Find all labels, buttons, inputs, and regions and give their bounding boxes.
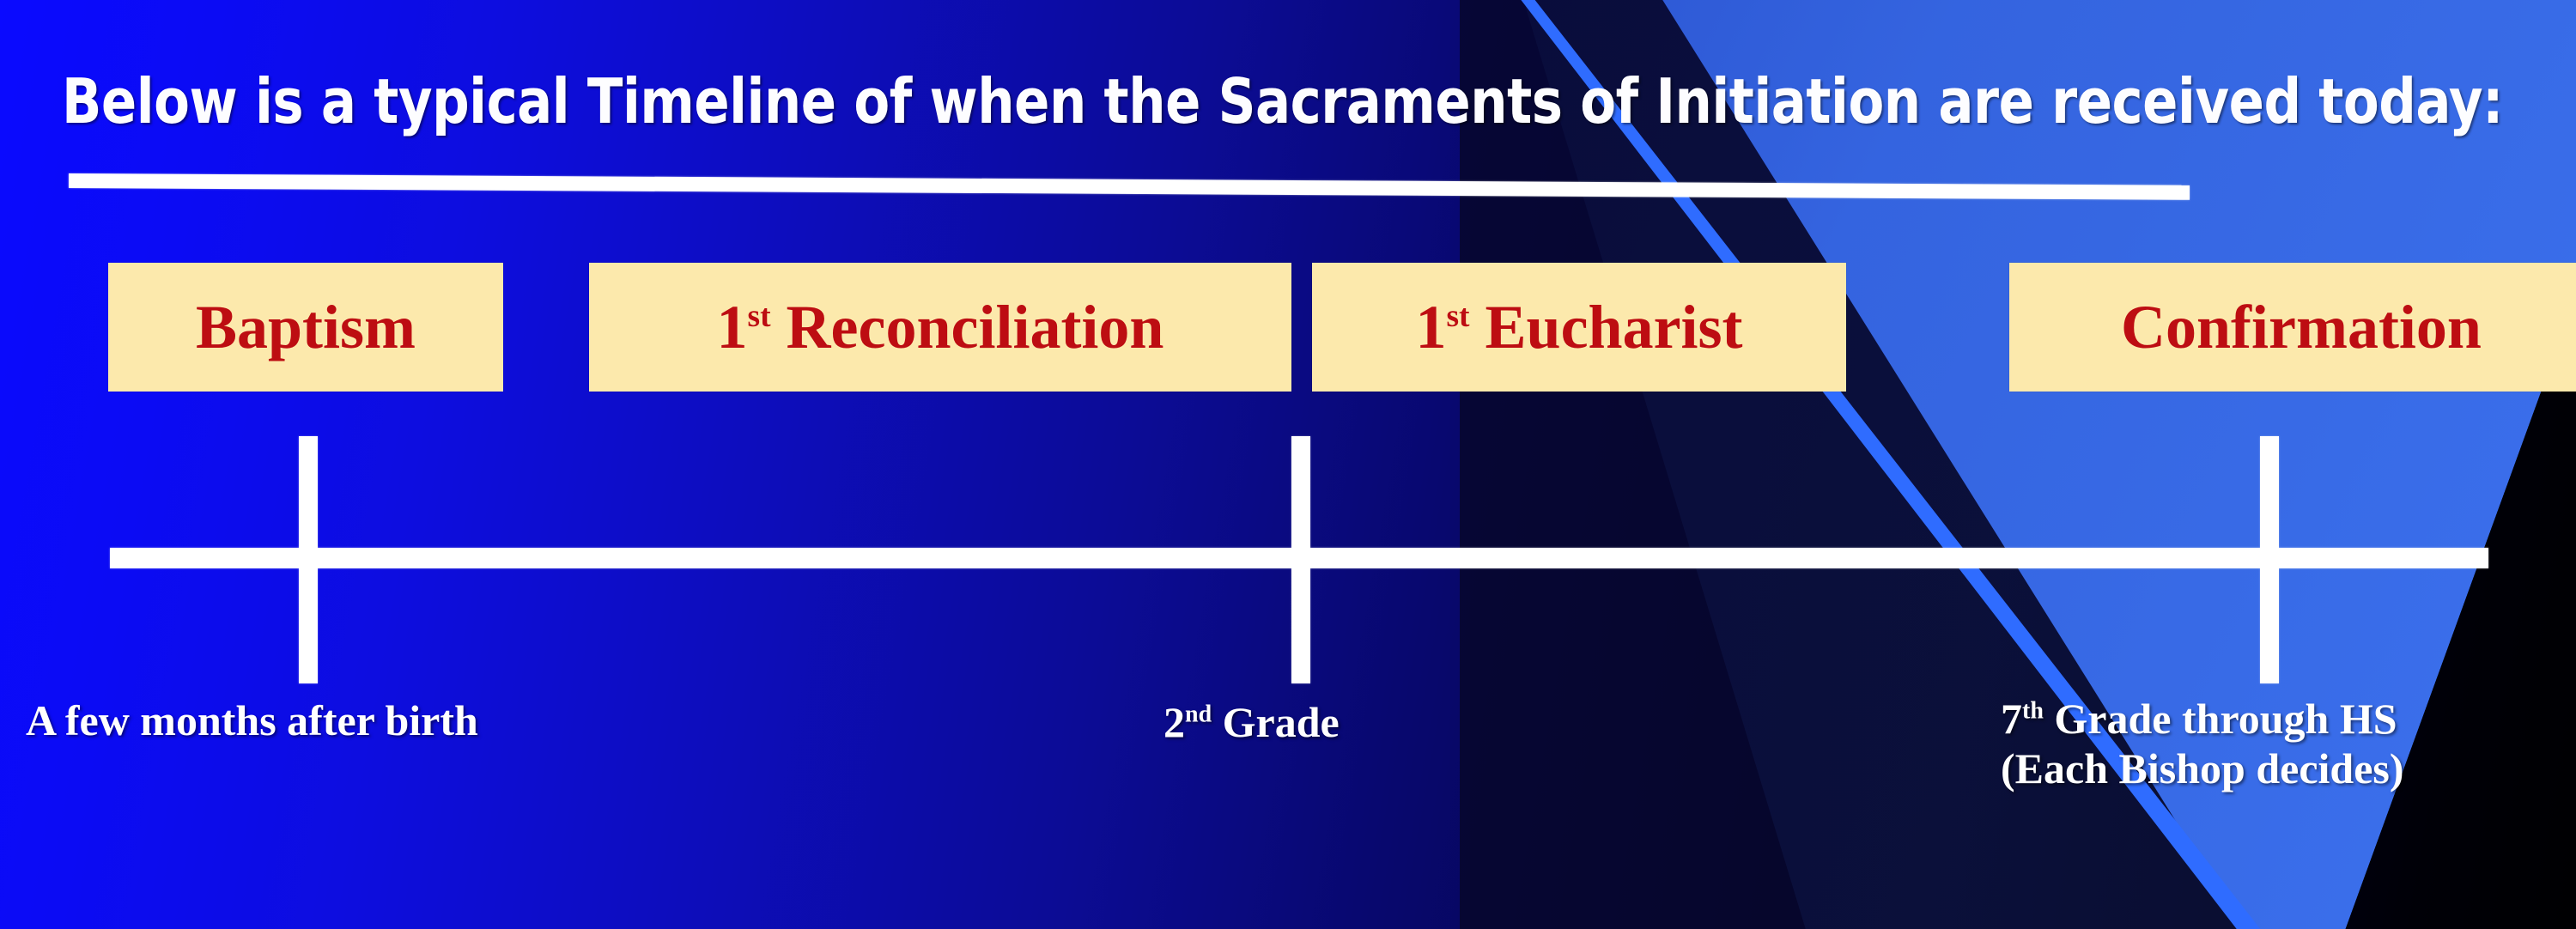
sacrament-name: Eucharist bbox=[1470, 293, 1743, 361]
timeline-caption-confirmation-age: 7th Grade through HS(Each Bishop decides… bbox=[2001, 694, 2404, 793]
ordinal-number: 1 bbox=[1415, 293, 1446, 361]
timeline-tick-eucharist bbox=[1291, 436, 1310, 683]
ordinal-suffix: nd bbox=[1185, 701, 1212, 727]
timeline-caption-eucharist-age: 2nd Grade bbox=[1163, 697, 1340, 747]
title-underline bbox=[69, 173, 2190, 200]
sacrament-label-baptism: Baptism bbox=[189, 296, 422, 358]
sacrament-box-baptism: Baptism bbox=[108, 263, 503, 392]
caption-text: Grade through HS bbox=[2044, 695, 2397, 743]
sacrament-label-reconciliation: 1st Reconciliation bbox=[710, 296, 1171, 358]
ordinal-number: 7 bbox=[2001, 695, 2022, 743]
sacrament-box-confirmation: Confirmation bbox=[2009, 263, 2576, 392]
timeline-caption-baptism-age: A few months after birth bbox=[26, 695, 478, 745]
page-title: Below is a typical Timeline of when the … bbox=[62, 70, 2386, 132]
caption-text-line2: (Each Bishop decides) bbox=[2001, 744, 2404, 793]
ordinal-number: 2 bbox=[1163, 698, 1185, 746]
timeline-tick-confirmation bbox=[2260, 436, 2279, 683]
sacrament-name: Reconciliation bbox=[771, 293, 1164, 361]
slide-canvas: Below is a typical Timeline of when the … bbox=[0, 0, 2576, 929]
sacrament-label-eucharist: 1st Eucharist bbox=[1408, 296, 1749, 358]
sacrament-box-reconciliation: 1st Reconciliation bbox=[589, 263, 1291, 392]
sacrament-box-eucharist: 1st Eucharist bbox=[1312, 263, 1846, 392]
sacrament-label-confirmation: Confirmation bbox=[2114, 296, 2488, 358]
ordinal-number: 1 bbox=[717, 293, 748, 361]
ordinal-suffix: th bbox=[2022, 697, 2044, 724]
ordinal-suffix: st bbox=[748, 299, 771, 334]
ordinal-suffix: st bbox=[1446, 299, 1469, 334]
caption-text: Grade bbox=[1212, 698, 1340, 746]
timeline-tick-baptism bbox=[299, 436, 318, 683]
